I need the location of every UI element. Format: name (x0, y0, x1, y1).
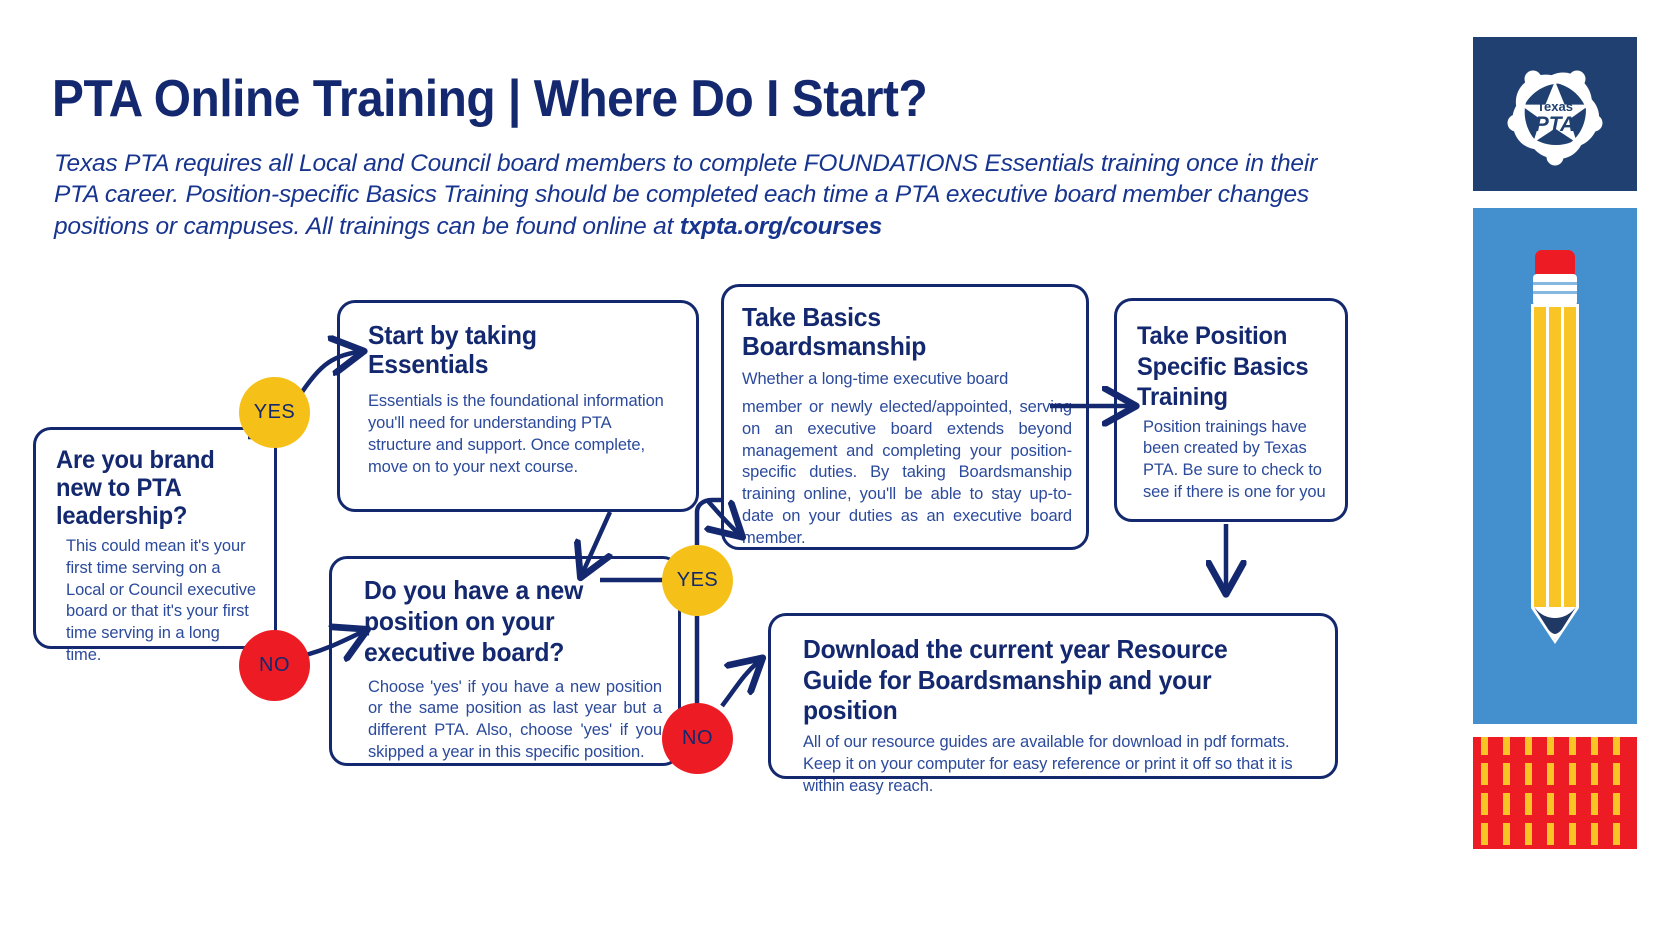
decision-no-brand-new: NO (239, 630, 310, 701)
decision-no-new-position: NO (662, 703, 733, 774)
decision-yes-new-position: YES (662, 545, 733, 616)
yellow-pencil-illustration (1473, 208, 1637, 724)
red-yellow-dash-pattern (1473, 737, 1637, 849)
decision-label: YES (677, 569, 719, 592)
texas-pta-star-logo: Texas PTA (1473, 37, 1637, 191)
pencil-panel (1473, 208, 1637, 724)
decision-label: NO (259, 654, 290, 677)
decision-label: YES (254, 401, 296, 424)
logo-text-texas: Texas (1537, 99, 1573, 114)
decision-label: NO (682, 727, 713, 750)
flow-connectors (0, 0, 1680, 945)
logo-text-pta: PTA (1535, 113, 1575, 136)
texas-pta-logo-panel: Texas PTA (1473, 37, 1637, 191)
infographic-page: PTA Online Training | Where Do I Start? … (0, 0, 1680, 945)
decision-yes-brand-new: YES (239, 377, 310, 448)
red-dash-pattern-panel (1473, 737, 1637, 849)
